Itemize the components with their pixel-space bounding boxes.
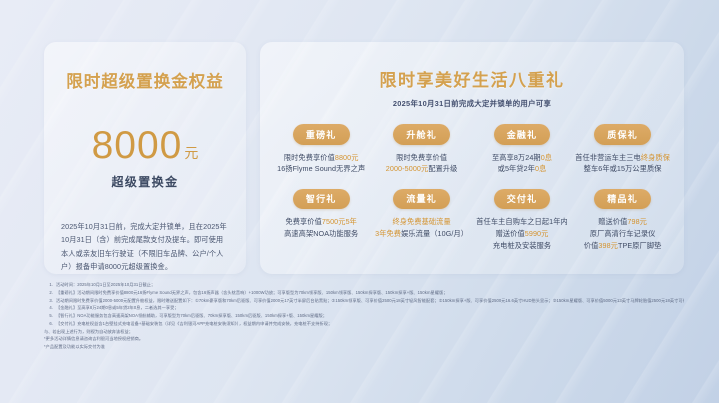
- gift-description-line: 或5年贷2年0息: [475, 163, 569, 175]
- trade-in-card-content: 限时超级置换金权益 8000 元 超级置换金 2025年10月31日前，完成大定…: [44, 42, 246, 273]
- gift-badge: 交付礼: [494, 189, 551, 210]
- gift-description-line: 至高享8万24期0息: [475, 152, 569, 164]
- gift-description: 首任非营运车主三电终身质保整车6年或15万公里质保: [575, 152, 670, 175]
- trade-in-title: 限时超级置换金权益: [61, 68, 229, 92]
- gift-description: 首任车主自购车之日起1年内赠送价值5990元充电桩及安装服务: [475, 216, 569, 251]
- fineprint-item-number: 1.: [44, 281, 53, 289]
- eight-gifts-title: 限时享美好生活八重礼: [272, 66, 672, 91]
- gift-description-line: 整车6年或15万公里质保: [575, 163, 670, 175]
- trade-in-benefit-card: 限时超级置换金权益 8000 元 超级置换金 2025年10月31日前，完成大定…: [44, 42, 246, 274]
- fineprint-item-number: 4.: [44, 304, 53, 312]
- gift-item: 流量礼终身免费基础流量3年免费娱乐流量（10G/月）: [372, 189, 470, 251]
- gift-description-line: 首任车主自购车之日起1年内: [475, 216, 569, 228]
- gift-item: 金融礼至高享8万24期0息或5年贷2年0息: [473, 124, 571, 175]
- gift-badge: 金融礼: [494, 124, 551, 145]
- fineprint-item-text: 【交付礼】充电桩权益含1台壁挂式充电设备+基础安装包（详见《吉利银河APP充电桩…: [56, 320, 684, 328]
- gift-item: 精品礼赠送价值798元原厂高清行车记录仪价值398元TPE原厂脚垫: [573, 189, 672, 251]
- gift-description-line: 免费享价值7500元5年: [274, 216, 368, 228]
- trade-in-description: 2025年10月31日前，完成大定并锁单，且在2025年10月31日（含）前完成…: [61, 220, 229, 273]
- cards-container: 限时超级置换金权益 8000 元 超级置换金 2025年10月31日前，完成大定…: [44, 42, 684, 274]
- eight-gifts-card: 限时享美好生活八重礼 2025年10月31日前完成大定并锁单的用户可享 重磅礼限…: [260, 42, 684, 274]
- trade-in-amount-value: 8000: [92, 126, 183, 165]
- gift-description-line: 价值398元TPE原厂脚垫: [575, 240, 670, 252]
- gift-item: 智行礼免费享价值7500元5年高速高架NOA功能服务: [272, 189, 370, 251]
- gift-description-line: 终身免费基础流量: [374, 216, 468, 228]
- eight-gifts-content: 限时享美好生活八重礼 2025年10月31日前完成大定并锁单的用户可享 重磅礼限…: [260, 42, 684, 251]
- gift-description-line: 赠送价值5990元: [475, 228, 569, 240]
- gift-badge: 重磅礼: [293, 124, 350, 145]
- fineprint-item-text: 【重磅礼】活动期间限时免费享价值8800元16扬Flyme Sound无界之声，…: [56, 289, 684, 297]
- gift-item: 重磅礼限时免费享价值8800元16扬Flyme Sound无界之声: [272, 124, 370, 175]
- gift-description-line: 充电桩及安装服务: [475, 240, 569, 252]
- gift-description-line: 高速高架NOA功能服务: [274, 228, 368, 240]
- fineprint-item: 3.活动期间限时免费享价值2000-5000元配置升舱权益，限时赠送配置如下：①…: [44, 297, 684, 305]
- trade-in-amount-row: 8000 元: [61, 126, 229, 165]
- fineprint-note: *更多活动详情信息请咨询吉利银河当地授权经销商。: [44, 335, 684, 343]
- fineprint-item: 1.活动时间：2025年10月1日至2025年10月31日截止；: [44, 281, 684, 289]
- gift-badge: 精品礼: [594, 189, 651, 210]
- trade-in-amount-unit: 元: [184, 143, 198, 163]
- fineprint-item-number: 5.: [44, 312, 53, 320]
- gift-description: 至高享8万24期0息或5年贷2年0息: [475, 152, 569, 175]
- fineprint-item: 6.【交付礼】充电桩权益含1台壁挂式充电设备+基础安装包（详见《吉利银河APP充…: [44, 320, 684, 328]
- gift-description: 限时免费享价值2000-5000元配置升级: [374, 152, 468, 175]
- gift-description: 免费享价值7500元5年高速高架NOA功能服务: [274, 216, 368, 239]
- gift-description-line: 原厂高清行车记录仪: [575, 228, 670, 240]
- fineprint-item: 4.【金融礼】至高享8万24期0息或5年贷2年0息，二者选其一享受；: [44, 304, 684, 312]
- fineprint-item: 5.【智行礼】NOA功能服务包含高速高架NOA领航辅助，可享版型为70km后驱版…: [44, 312, 684, 320]
- gift-description: 限时免费享价值8800元16扬Flyme Sound无界之声: [274, 152, 368, 175]
- gift-grid: 重磅礼限时免费享价值8800元16扬Flyme Sound无界之声升舱礼限时免费…: [272, 124, 672, 251]
- promo-page: 限时超级置换金权益 8000 元 超级置换金 2025年10月31日前，完成大定…: [0, 0, 719, 403]
- gift-badge: 智行礼: [293, 189, 350, 210]
- fineprint-item-number: 6.: [44, 320, 53, 328]
- gift-badge: 流量礼: [393, 189, 450, 210]
- eight-gifts-subtitle: 2025年10月31日前完成大定并锁单的用户可享: [272, 98, 672, 109]
- gift-item: 质保礼首任非营运车主三电终身质保整车6年或15万公里质保: [573, 124, 672, 175]
- fineprint-item-number: 3.: [44, 297, 53, 305]
- gift-description-line: 限时免费享价值8800元: [274, 152, 368, 164]
- gift-description-line: 16扬Flyme Sound无界之声: [274, 163, 368, 175]
- fineprint-section: 1.活动时间：2025年10月1日至2025年10月31日截止；2.【重磅礼】活…: [44, 281, 684, 351]
- fineprint-item-text: 活动期间限时免费享价值2000-5000元配置升舱权益，限时赠送配置如下：①70…: [56, 297, 684, 305]
- gift-description: 终身免费基础流量3年免费娱乐流量（10G/月）: [374, 216, 468, 239]
- gift-description-line: 2000-5000元配置升级: [374, 163, 468, 175]
- gift-description-line: 限时免费享价值: [374, 152, 468, 164]
- gift-description: 赠送价值798元原厂高清行车记录仪价值398元TPE原厂脚垫: [575, 216, 670, 251]
- gift-item: 交付礼首任车主自购车之日起1年内赠送价值5990元充电桩及安装服务: [473, 189, 571, 251]
- gift-description-line: 3年免费娱乐流量（10G/月）: [374, 228, 468, 240]
- fineprint-item-text: 【金融礼】至高享8万24期0息或5年贷2年0息，二者选其一享受；: [56, 304, 684, 312]
- fineprint-closing: 与、若出现上述行为，则视为自动放弃该权益；: [44, 328, 684, 336]
- fineprint-item: 2.【重磅礼】活动期间限时免费享价值8800元16扬Flyme Sound无界之…: [44, 289, 684, 297]
- fineprint-item-text: 【智行礼】NOA功能服务包含高速高架NOA领航辅助，可享版型为70km后驱版、7…: [56, 312, 684, 320]
- fineprint-item-text: 活动时间：2025年10月1日至2025年10月31日截止；: [56, 281, 684, 289]
- gift-description-line: 赠送价值798元: [575, 216, 670, 228]
- gift-badge: 质保礼: [594, 124, 651, 145]
- fineprint-note: *产品配置及功能以实际交付为准: [44, 343, 684, 351]
- trade-in-amount-label: 超级置换金: [61, 173, 229, 190]
- fineprint-item-number: 2.: [44, 289, 53, 297]
- gift-description-line: 首任非营运车主三电终身质保: [575, 152, 670, 164]
- gift-badge: 升舱礼: [393, 124, 450, 145]
- gift-item: 升舱礼限时免费享价值2000-5000元配置升级: [372, 124, 470, 175]
